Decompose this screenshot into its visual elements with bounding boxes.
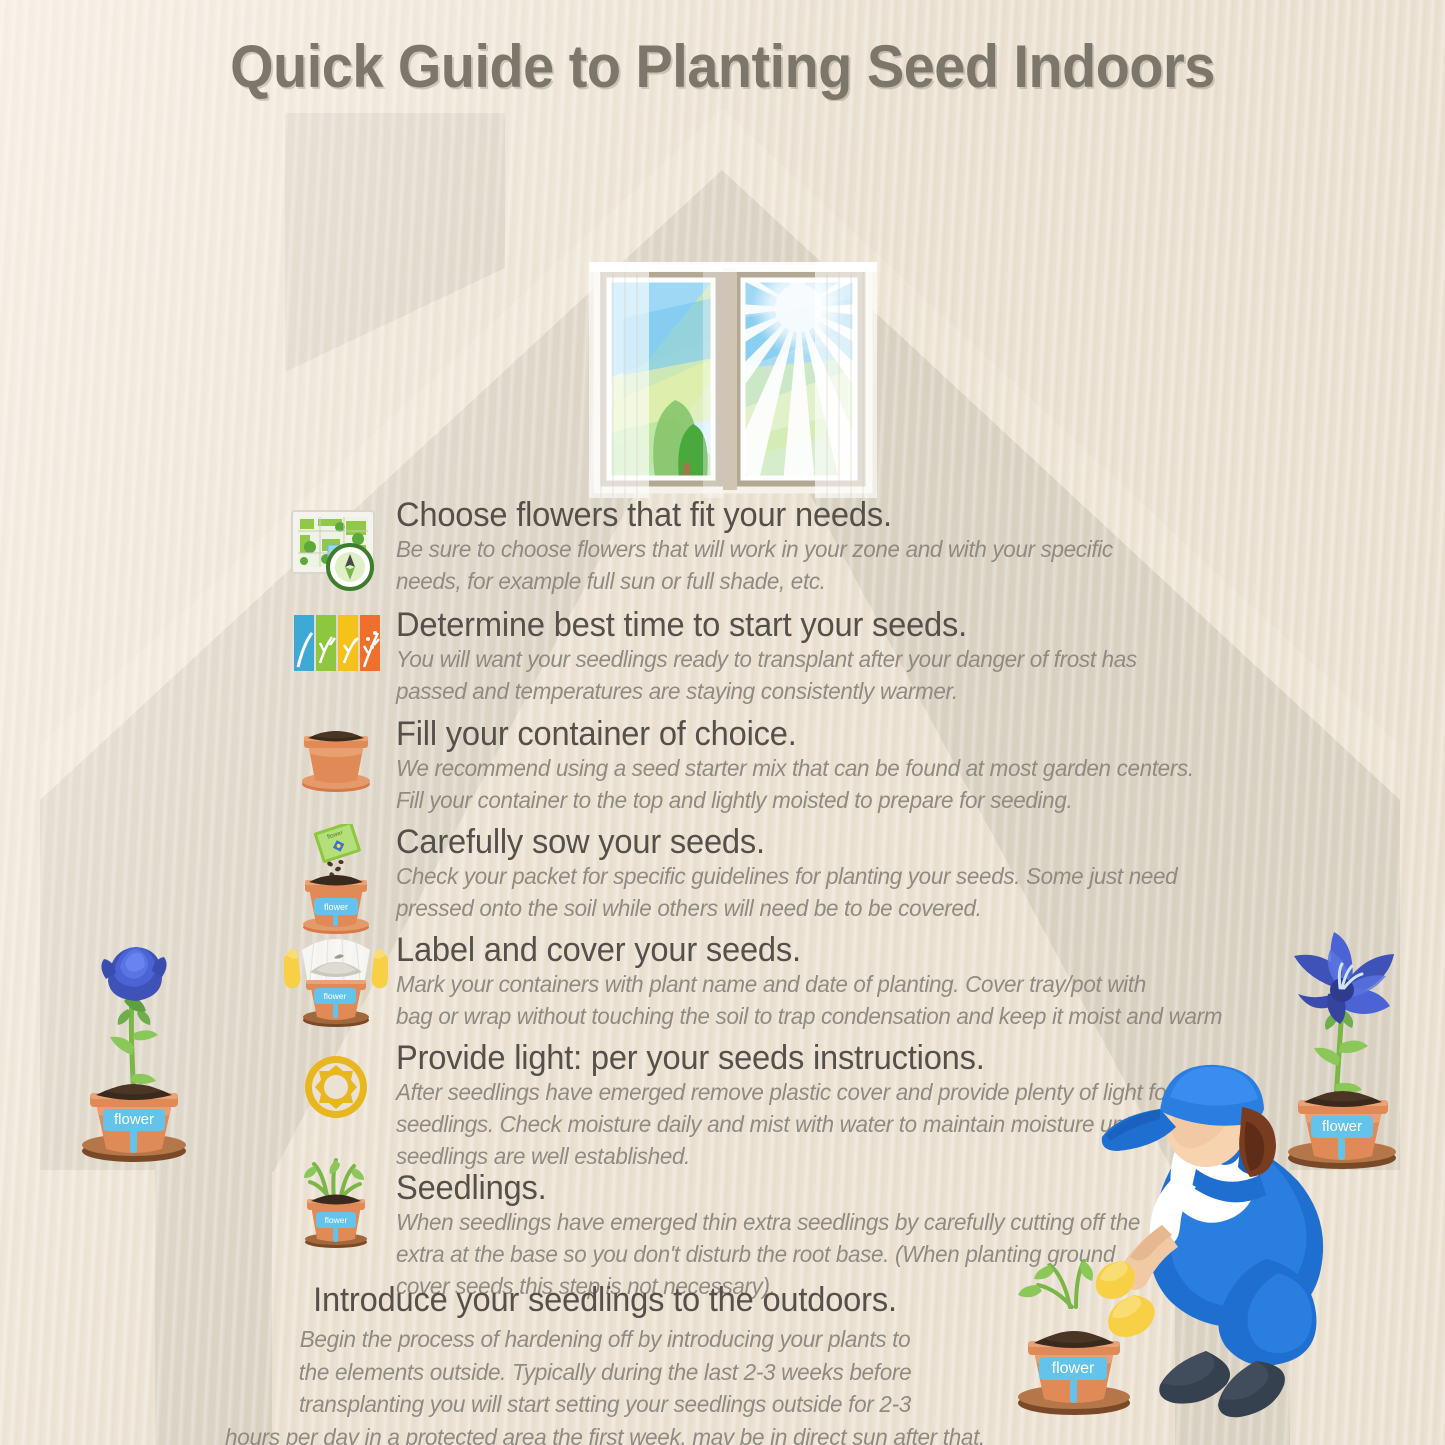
step-sow-seeds: flower	[286, 824, 1216, 924]
step-icon-slot	[286, 607, 386, 608]
step-icon-slot: flower	[286, 824, 386, 825]
step-body-line: You will want your seedlings ready to tr…	[396, 644, 1179, 675]
step-body-line: Mark your containers with plant name and…	[396, 969, 1222, 1000]
step-icon-slot	[286, 1040, 386, 1041]
closing-body-line: the elements outside. Typically during t…	[197, 1356, 1013, 1388]
blue-rose-in-pot-illustration: flower	[68, 915, 198, 1170]
blue-rose-in-pot-icon: flower	[68, 915, 198, 1165]
window-with-sun-icon	[583, 258, 883, 514]
step-icon-slot: flower	[286, 1170, 386, 1171]
step-heading: Choose flowers that fit your needs.	[396, 497, 1183, 533]
closing-body: Begin the process of hardening off by in…	[197, 1323, 1013, 1445]
step-label-cover: flower Label and cover your seeds. Mark …	[286, 932, 1216, 1032]
step-icon-slot	[286, 497, 386, 498]
step-body-line: passed and temperatures are staying cons…	[396, 676, 1179, 707]
step-body-line: bag or wrap without touching the soil to…	[396, 1001, 1222, 1032]
step-body-line: Be sure to choose flowers that will work…	[396, 534, 1179, 565]
step-body-line: We recommend using a seed starter mix th…	[396, 753, 1194, 784]
step-text-block: Determine best time to start your seeds.…	[386, 607, 1216, 707]
step-text-block: Carefully sow your seeds. Check your pac…	[386, 824, 1216, 924]
step-body-line: needs, for example full sun or full shad…	[396, 566, 1179, 597]
four-seasons-bars-icon	[286, 611, 386, 681]
glove-left-icon	[284, 949, 300, 988]
step-text-block: Fill your container of choice. We recomm…	[386, 716, 1231, 816]
garden-plan-compass-icon	[286, 505, 386, 597]
step-heading: Fill your container of choice.	[396, 716, 1198, 752]
step-text-block: Choose flowers that fit your needs. Be s…	[386, 497, 1216, 597]
gardener-illustration: flower	[1010, 1035, 1340, 1440]
glove-right-icon	[372, 949, 388, 988]
seed-packet-pouring-icon: flower	[286, 824, 386, 934]
step-fill-container: Fill your container of choice. We recomm…	[286, 716, 1216, 816]
closing-block: Introduce your seedlings to the outdoors…	[180, 1282, 1030, 1445]
step-heading: Label and cover your seeds.	[396, 932, 1226, 968]
infographic-poster: Quick Guide to Planting Seed Indoors	[0, 0, 1445, 1445]
step-icon-slot	[286, 716, 386, 717]
kneeling-gardener-planting-icon: flower	[1010, 1035, 1340, 1435]
sun-ring-icon	[286, 1052, 386, 1122]
closing-body-line: transplanting you will start setting you…	[197, 1388, 1013, 1420]
seedlings-in-pot-icon: flower	[286, 1144, 386, 1248]
step-body-line: Fill your container to the top and light…	[396, 785, 1194, 816]
window-illustration	[583, 258, 883, 514]
poster-title: Quick Guide to Planting Seed Indoors	[51, 32, 1395, 101]
step-body-line: Check your packet for specific guideline…	[396, 861, 1179, 892]
pot-label-text: flower	[324, 991, 347, 1001]
gloves-covering-pot-icon: flower	[280, 928, 392, 1028]
pot-label-text: flower	[324, 902, 348, 912]
filled-pot-icon	[286, 718, 386, 796]
step-heading: Carefully sow your seeds.	[396, 824, 1183, 860]
step-text-block: Label and cover your seeds. Mark your co…	[386, 932, 1261, 1032]
step-heading: Determine best time to start your seeds.	[396, 607, 1183, 643]
closing-heading: Introduce your seedlings to the outdoors…	[197, 1282, 1013, 1319]
step-choose-flowers: Choose flowers that fit your needs. Be s…	[286, 497, 1216, 597]
step-icon-slot: flower	[286, 932, 386, 933]
pot-label-text: flower	[325, 1215, 348, 1225]
closing-body-line: Begin the process of hardening off by in…	[197, 1323, 1013, 1355]
pot-label-text: flower	[1052, 1360, 1095, 1377]
pot-label-text: flower	[114, 1111, 154, 1128]
step-determine-time: Determine best time to start your seeds.…	[286, 607, 1216, 707]
closing-body-line: hours per day in a protected area the fi…	[197, 1421, 1013, 1445]
step-body-line: pressed onto the soil while others will …	[396, 893, 1179, 924]
